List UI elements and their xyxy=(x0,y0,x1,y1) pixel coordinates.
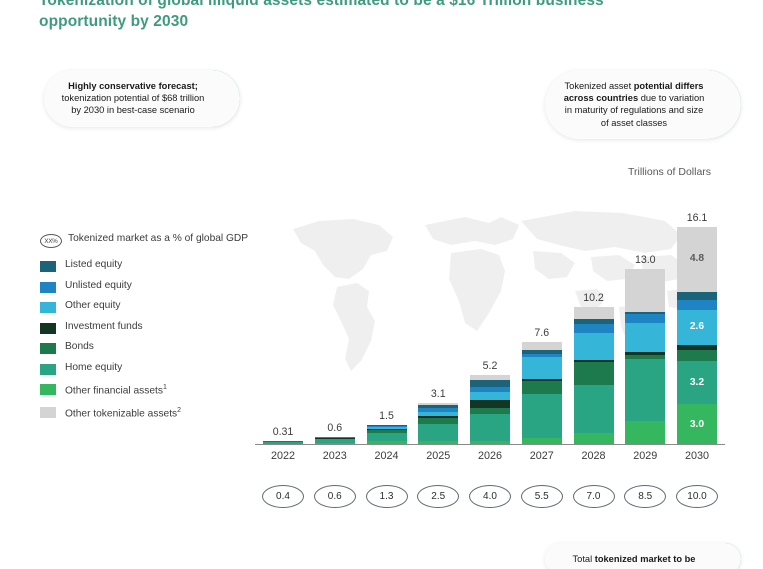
gdp-percent-row: 0.40.61.32.54.05.57.08.510.0 xyxy=(255,485,725,508)
chart-plot-area: 0.310.61.53.15.27.610.213.016.14.82.63.2… xyxy=(255,195,725,445)
gdp-percent-bubble: 10.0 xyxy=(676,485,718,508)
bar-column[interactable]: 13.0 xyxy=(623,254,667,445)
bar-segment[interactable] xyxy=(574,333,614,360)
legend-label: Unlisted equity xyxy=(65,280,132,293)
legend-swatch-icon xyxy=(40,261,56,272)
callout-bottom-text: Total tokenized market to be xyxy=(545,543,741,569)
legend-item-gdp: XX% Tokenized market as a % of global GD… xyxy=(40,233,250,248)
bar-column[interactable]: 1.5 xyxy=(365,410,409,445)
bar-total-label: 10.2 xyxy=(583,292,604,304)
bar-segment[interactable] xyxy=(418,424,458,440)
bar-segment[interactable] xyxy=(470,380,510,387)
bars-container: 0.310.61.53.15.27.610.213.016.14.82.63.2… xyxy=(255,195,725,445)
stacked-bar[interactable] xyxy=(574,307,614,445)
gdp-percent-bubble: 7.0 xyxy=(573,485,615,508)
stacked-bar[interactable] xyxy=(522,342,562,445)
legend-label: Other tokenizable assets2 xyxy=(65,405,181,421)
legend-item[interactable]: Other tokenizable assets2 xyxy=(40,405,250,421)
bar-segment[interactable] xyxy=(522,357,562,379)
gdp-percent-bubble: 4.0 xyxy=(469,485,511,508)
bar-segment[interactable] xyxy=(470,414,510,441)
bar-column[interactable]: 0.6 xyxy=(313,422,357,445)
bar-segment[interactable] xyxy=(470,400,510,408)
legend-label: Listed equity xyxy=(65,259,122,272)
bar-column[interactable]: 7.6 xyxy=(520,327,564,445)
legend-swatch-icon xyxy=(40,323,56,334)
chart-legend: XX% Tokenized market as a % of global GD… xyxy=(40,233,250,429)
legend-label: Investment funds xyxy=(65,321,143,334)
bar-total-label: 5.2 xyxy=(483,360,498,372)
x-axis-label: 2025 xyxy=(416,450,460,462)
legend-item[interactable]: Bonds xyxy=(40,341,250,354)
bar-total-label: 1.5 xyxy=(379,410,394,422)
legend-label: Other equity xyxy=(65,300,121,313)
bar-segment[interactable] xyxy=(574,362,614,385)
stacked-bar[interactable] xyxy=(470,375,510,445)
stacked-bar[interactable]: 4.82.63.23.0 xyxy=(677,227,717,445)
x-axis-label: 2027 xyxy=(520,450,564,462)
legend-label-gdp: Tokenized market as a % of global GDP xyxy=(68,233,248,246)
callout-bottom-pre: Total xyxy=(573,554,595,564)
legend-footnote-marker: 2 xyxy=(177,407,181,414)
bar-segment[interactable]: 4.8 xyxy=(677,227,717,292)
callout-left-rest: tokenization potential of $68 trillion b… xyxy=(62,93,205,115)
callout-right-text: Tokenized asset potential differs across… xyxy=(545,70,741,139)
legend-label: Bonds xyxy=(65,341,94,354)
bar-total-label: 0.6 xyxy=(327,422,342,434)
bar-segment[interactable]: 3.2 xyxy=(677,361,717,404)
bar-segment[interactable] xyxy=(574,324,614,333)
bar-segment[interactable] xyxy=(677,350,717,361)
callout-right-pre: Tokenized asset xyxy=(565,81,634,91)
gdp-bubble-icon: XX% xyxy=(40,234,62,248)
legend-swatch-icon xyxy=(40,364,56,375)
gdp-percent-bubble: 8.5 xyxy=(624,485,666,508)
gdp-percent-cell: 2.5 xyxy=(416,485,460,508)
x-axis-label: 2022 xyxy=(261,450,305,462)
callout-bottom: Total tokenized market to be xyxy=(545,543,741,569)
callout-left-text: Highly conservative forecast; tokenizati… xyxy=(44,70,240,127)
y-axis-unit-label: Trillions of Dollars xyxy=(628,166,711,178)
x-axis-label: 2029 xyxy=(623,450,667,462)
page-title: Tokenization of global illiquid assets e… xyxy=(39,0,639,32)
bar-total-label: 7.6 xyxy=(534,327,549,339)
bar-total-label: 13.0 xyxy=(635,254,656,266)
bar-segment[interactable] xyxy=(677,300,717,309)
gdp-percent-bubble: 1.3 xyxy=(366,485,408,508)
x-axis-label: 2028 xyxy=(572,450,616,462)
chart-page: Tokenization of global illiquid assets e… xyxy=(0,0,763,569)
bar-column[interactable]: 10.2 xyxy=(572,292,616,445)
bar-column[interactable]: 3.1 xyxy=(416,388,460,445)
legend-label: Home equity xyxy=(65,362,122,375)
x-axis-label: 2030 xyxy=(675,450,719,462)
bar-total-label: 16.1 xyxy=(687,212,708,224)
gdp-percent-cell: 10.0 xyxy=(675,485,719,508)
gdp-percent-bubble: 2.5 xyxy=(417,485,459,508)
callout-bottom-bold: tokenized market to be xyxy=(595,554,696,564)
bar-segment[interactable] xyxy=(574,385,614,432)
bar-segment[interactable] xyxy=(574,307,614,319)
legend-item[interactable]: Other equity xyxy=(40,300,250,313)
bar-column[interactable]: 5.2 xyxy=(468,360,512,445)
bar-segment[interactable] xyxy=(470,392,510,399)
legend-item[interactable]: Other financial assets1 xyxy=(40,382,250,398)
bar-total-label: 0.31 xyxy=(273,426,294,438)
legend-label: Other financial assets1 xyxy=(65,382,167,398)
x-axis-label: 2024 xyxy=(365,450,409,462)
x-axis-labels: 202220232024202520262027202820292030 xyxy=(255,450,725,462)
gdp-percent-cell: 5.5 xyxy=(520,485,564,508)
bar-column[interactable]: 0.31 xyxy=(261,426,305,445)
gdp-percent-cell: 4.0 xyxy=(468,485,512,508)
bar-total-label: 3.1 xyxy=(431,388,446,400)
legend-swatch-icon xyxy=(40,384,56,395)
gdp-percent-bubble: 0.6 xyxy=(314,485,356,508)
bar-segment[interactable]: 2.6 xyxy=(677,310,717,345)
bar-segment[interactable] xyxy=(677,292,717,300)
callout-right: Tokenized asset potential differs across… xyxy=(545,70,741,139)
gdp-percent-bubble: 0.4 xyxy=(262,485,304,508)
bar-segment[interactable] xyxy=(625,421,665,445)
gdp-percent-cell: 7.0 xyxy=(572,485,616,508)
bar-segment[interactable] xyxy=(522,394,562,437)
bar-segment[interactable] xyxy=(625,314,665,323)
gdp-percent-bubble: 5.5 xyxy=(521,485,563,508)
bar-column[interactable]: 16.14.82.63.23.0 xyxy=(675,212,719,445)
legend-swatch-icon xyxy=(40,302,56,313)
stacked-bar[interactable] xyxy=(625,269,665,445)
bar-segment[interactable] xyxy=(625,269,665,312)
x-axis-label: 2023 xyxy=(313,450,357,462)
x-axis-label: 2026 xyxy=(468,450,512,462)
legend-swatch-icon xyxy=(40,407,56,418)
stacked-bar[interactable] xyxy=(367,425,407,445)
legend-item[interactable]: Listed equity xyxy=(40,259,250,272)
bar-segment[interactable]: 3.0 xyxy=(677,404,717,445)
bar-segment[interactable] xyxy=(625,359,665,421)
gdp-percent-cell: 1.3 xyxy=(365,485,409,508)
callout-left-bold: Highly conservative forecast; xyxy=(68,81,198,91)
bar-segment[interactable] xyxy=(522,381,562,395)
bar-segment[interactable] xyxy=(522,342,562,349)
legend-item[interactable]: Unlisted equity xyxy=(40,280,250,293)
legend-item[interactable]: Home equity xyxy=(40,362,250,375)
gdp-percent-cell: 0.4 xyxy=(261,485,305,508)
bar-segment[interactable] xyxy=(625,323,665,351)
callout-left: Highly conservative forecast; tokenizati… xyxy=(44,70,240,127)
legend-footnote-marker: 1 xyxy=(163,384,167,391)
bar-segment[interactable] xyxy=(367,433,407,441)
x-axis-line xyxy=(255,444,725,445)
legend-item[interactable]: Investment funds xyxy=(40,321,250,334)
legend-swatch-icon xyxy=(40,282,56,293)
stacked-bar[interactable] xyxy=(418,403,458,445)
gdp-percent-cell: 0.6 xyxy=(313,485,357,508)
gdp-percent-cell: 8.5 xyxy=(623,485,667,508)
legend-swatch-icon xyxy=(40,343,56,354)
